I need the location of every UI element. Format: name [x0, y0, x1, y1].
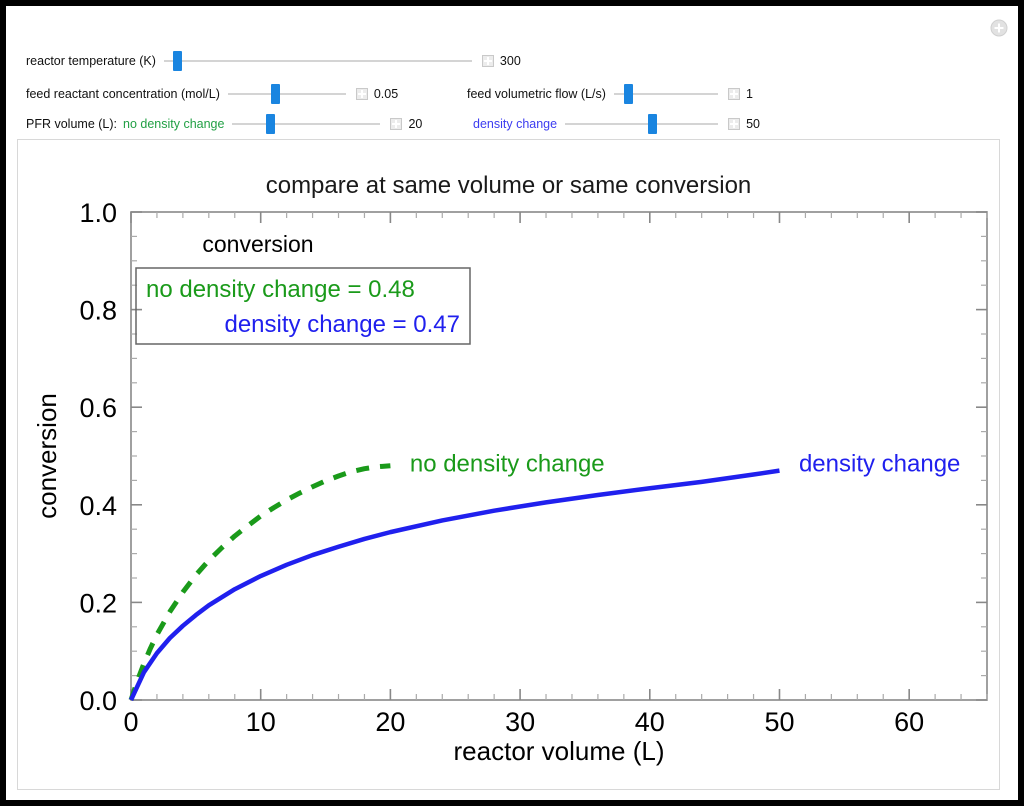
slider-track [164, 60, 472, 62]
control-label-feed-volumetric-flow: feed volumetric flow (L/s) [467, 87, 606, 101]
x-tick-label: 40 [635, 707, 665, 737]
slider-feed-reactant-concentration[interactable] [228, 83, 346, 105]
y-tick-label: 0.4 [79, 491, 117, 521]
series-line-no-density-change [131, 466, 390, 700]
conversion-vs-volume-plot: 01020304050600.00.20.40.60.81.0 reactor … [18, 140, 1001, 791]
y-tick-label: 0.8 [79, 296, 117, 326]
slider-pfr-volume-no-density-change[interactable] [232, 113, 380, 135]
slider-thumb[interactable] [266, 114, 275, 134]
control-label-feed-reactant-concentration: feed reactant concentration (mol/L) [26, 87, 220, 101]
legend: conversion no density change = 0.48 dens… [136, 231, 470, 344]
stepper-reactor-temperature[interactable] [482, 55, 494, 67]
x-tick-label: 10 [246, 707, 276, 737]
series-line-density-change [131, 471, 779, 700]
legend-entry-density-change: density change = 0.47 [224, 311, 460, 338]
control-value-pfr-volume-density-change: 50 [746, 117, 760, 131]
control-pfr-volume-no-density-change: PFR volume (L): no density change 20 [26, 113, 422, 135]
slider-track [565, 123, 718, 125]
slider-thumb[interactable] [624, 84, 633, 104]
x-axis-title: reactor volume (L) [454, 736, 665, 766]
chart-card: compare at same volume or same conversio… [17, 139, 1000, 790]
y-axis-title: conversion [32, 393, 62, 519]
control-value-feed-reactant-concentration: 0.05 [374, 87, 398, 101]
control-value-pfr-volume-no-density-change: 20 [408, 117, 422, 131]
curve-label-density-change: density change [799, 450, 960, 477]
slider-reactor-temperature[interactable] [164, 50, 472, 72]
slider-track [232, 123, 380, 125]
y-tick-label: 0.0 [79, 686, 117, 716]
stepper-pfr-volume-density-change[interactable] [728, 118, 740, 130]
control-value-feed-volumetric-flow: 1 [746, 87, 753, 101]
x-tick-label: 20 [375, 707, 405, 737]
stepper-feed-reactant-concentration[interactable] [356, 88, 368, 100]
curve-annotations: no density changedensity change [410, 450, 961, 477]
slider-thumb[interactable] [648, 114, 657, 134]
control-label-no-density-change: no density change [123, 117, 224, 131]
stepper-feed-volumetric-flow[interactable] [728, 88, 740, 100]
control-label-reactor-temperature: reactor temperature (K) [26, 54, 156, 68]
y-tick-label: 1.0 [79, 198, 117, 228]
application-content: reactor temperature (K) 300 feed reactan… [6, 6, 1018, 800]
controls-panel: reactor temperature (K) 300 feed reactan… [6, 12, 1012, 138]
slider-thumb[interactable] [271, 84, 280, 104]
stepper-pfr-volume-no-density-change[interactable] [390, 118, 402, 130]
y-tick-label: 0.6 [79, 393, 117, 423]
legend-heading: conversion [202, 231, 313, 257]
slider-pfr-volume-density-change[interactable] [565, 113, 718, 135]
control-pfr-volume-density-change: density change 50 [473, 113, 760, 135]
control-label-density-change: density change [473, 117, 557, 131]
application-window: reactor temperature (K) 300 feed reactan… [0, 0, 1024, 806]
y-tick-label: 0.2 [79, 588, 117, 618]
slider-feed-volumetric-flow[interactable] [614, 83, 718, 105]
control-value-reactor-temperature: 300 [500, 54, 521, 68]
x-tick-label: 0 [123, 707, 138, 737]
slider-thumb[interactable] [173, 51, 182, 71]
control-prefix-pfr-volume: PFR volume (L): [26, 117, 117, 131]
control-reactor-temperature: reactor temperature (K) 300 [26, 50, 521, 72]
x-tick-label: 30 [505, 707, 535, 737]
data-series [131, 466, 779, 700]
slider-track [228, 93, 346, 95]
legend-entry-no-density-change: no density change = 0.48 [146, 276, 415, 303]
x-tick-label: 50 [764, 707, 794, 737]
curve-label-no-density-change: no density change [410, 450, 605, 477]
control-feed-volumetric-flow: feed volumetric flow (L/s) 1 [467, 83, 753, 105]
x-tick-label: 60 [894, 707, 924, 737]
control-feed-reactant-concentration: feed reactant concentration (mol/L) 0.05 [26, 83, 398, 105]
